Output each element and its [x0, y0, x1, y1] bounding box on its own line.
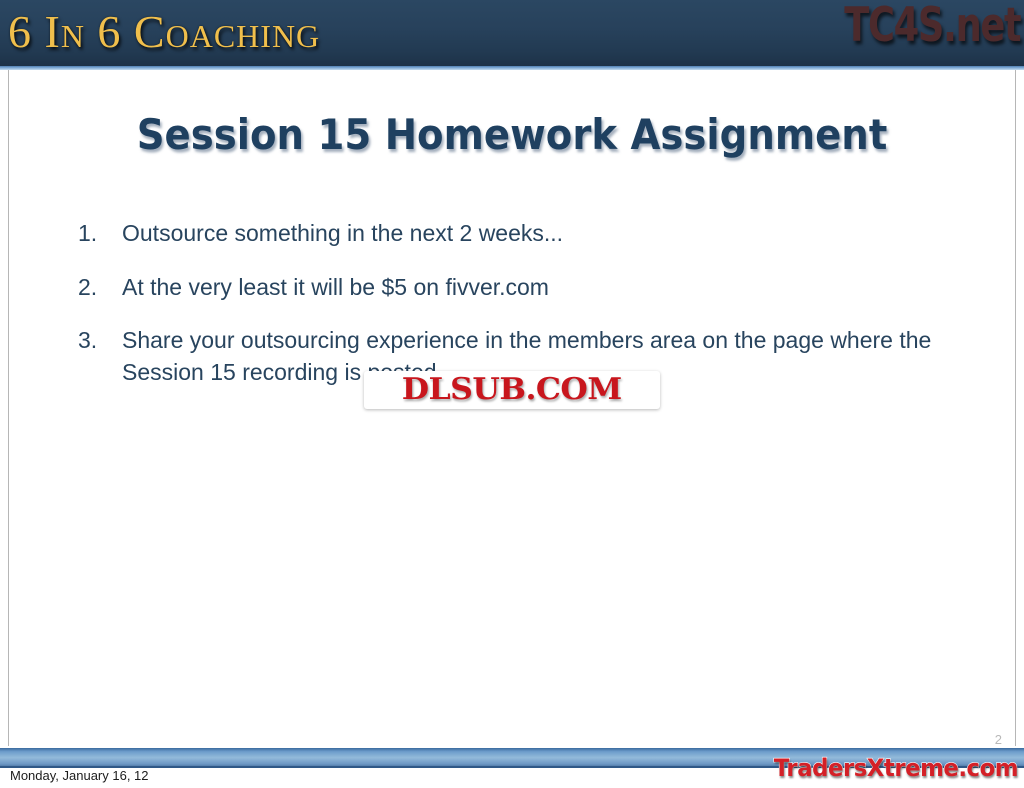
dlsub-watermark-text: DLSUB.COM [402, 375, 622, 405]
slide-border-right [1015, 70, 1016, 746]
header-band: 6 In 6 Coaching TC4S.net [0, 0, 1024, 66]
list-item-number: 1. [78, 218, 122, 250]
dlsub-watermark: DLSUB.COM [364, 371, 660, 409]
page-title: Session 15 Homework Assignment [41, 112, 983, 158]
presentation-slide: 6 In 6 Coaching TC4S.net Session 15 Home… [0, 0, 1024, 788]
page-number: 2 [995, 732, 1002, 747]
list-item-text: At the very least it will be $5 on fivve… [122, 272, 962, 304]
list-item: 1. Outsource something in the next 2 wee… [78, 218, 978, 250]
tradersxtreme-logo: TradersXtreme.com [774, 756, 1018, 780]
header-underline [0, 66, 1024, 70]
list-item-number: 2. [78, 272, 122, 304]
tc4s-logo: TC4S.net [844, 2, 1020, 49]
list-item: 2. At the very least it will be $5 on fi… [78, 272, 978, 304]
list-item-number: 3. [78, 325, 122, 357]
footer-date: Monday, January 16, 12 [10, 768, 149, 783]
brand-title: 6 In 6 Coaching [8, 9, 320, 55]
list-item-text: Outsource something in the next 2 weeks.… [122, 218, 962, 250]
slide-border-left [8, 70, 9, 746]
